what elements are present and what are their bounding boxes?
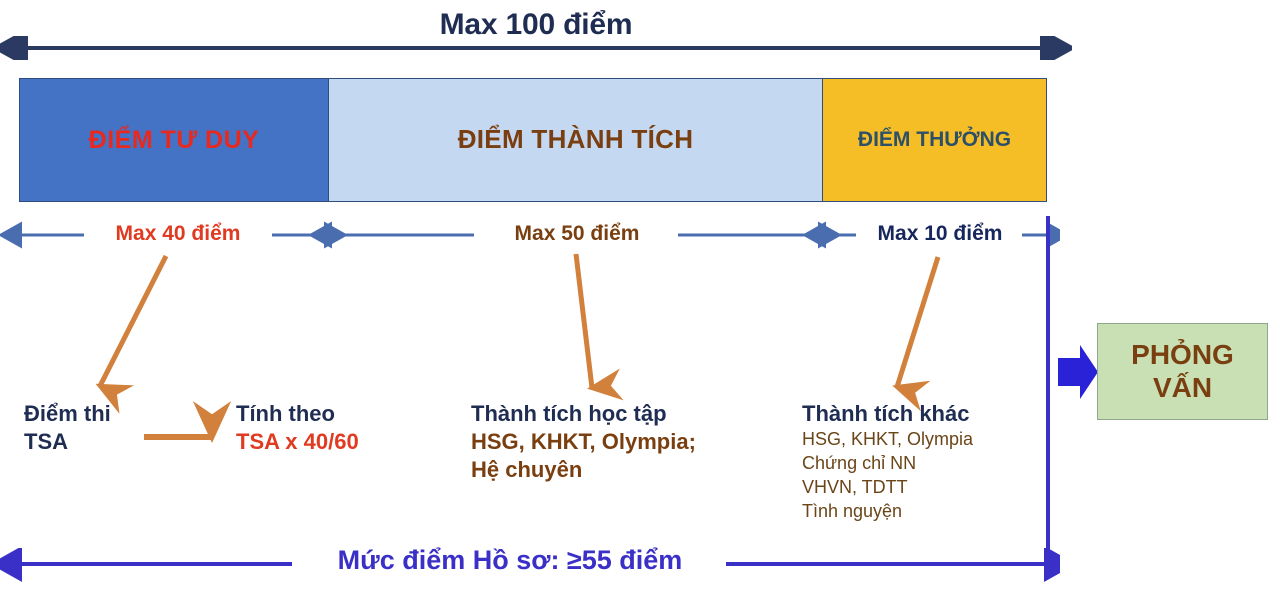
detail-other-heading: Thành tích khác <box>802 400 1052 428</box>
interview-box: PHỎNG VẤN <box>1097 323 1268 420</box>
profile-boundary-line <box>1046 216 1050 578</box>
interview-line2: VẤN <box>1131 372 1234 404</box>
detail-academic-achievement: Thành tích học tập HSG, KHKT, Olympia; H… <box>471 400 771 484</box>
detail-tsa-line1: Điểm thi <box>24 400 224 428</box>
connector-arrow-achievement <box>576 254 592 388</box>
detail-tsa-line2: TSA <box>24 428 224 456</box>
detail-other-item-1: Chứng chỉ NN <box>802 452 1052 476</box>
detail-tsa-score: Điểm thi TSA <box>24 400 224 456</box>
connector-arrow-thinking <box>100 256 166 386</box>
interview-line1: PHỎNG <box>1131 339 1234 371</box>
detail-academic-line2: Hệ chuyên <box>471 456 771 484</box>
detail-academic-heading: Thành tích học tập <box>471 400 771 428</box>
profile-threshold-label: Mức điểm Hồ sơ: ≥55 điểm <box>300 545 720 576</box>
detail-other-achievement: Thành tích khác HSG, KHKT, Olympia Chứng… <box>802 400 1052 524</box>
detail-academic-line1: HSG, KHKT, Olympia; <box>471 428 771 456</box>
detail-other-item-0: HSG, KHKT, Olympia <box>802 428 1052 452</box>
connector-arrow-bonus <box>897 257 938 387</box>
detail-other-item-2: VHVN, TDTT <box>802 476 1052 500</box>
detail-formula-line2: TSA x 40/60 <box>236 428 466 456</box>
detail-tsa-formula: Tính theo TSA x 40/60 <box>236 400 466 456</box>
diagram-canvas: Max 100 điểm ĐIỂM TƯ DUY ĐIỂM THÀNH TÍCH… <box>0 0 1280 598</box>
right-block-arrow-icon <box>1056 342 1100 402</box>
detail-other-item-3: Tình nguyện <box>802 500 1052 524</box>
detail-formula-line1: Tính theo <box>236 400 466 428</box>
